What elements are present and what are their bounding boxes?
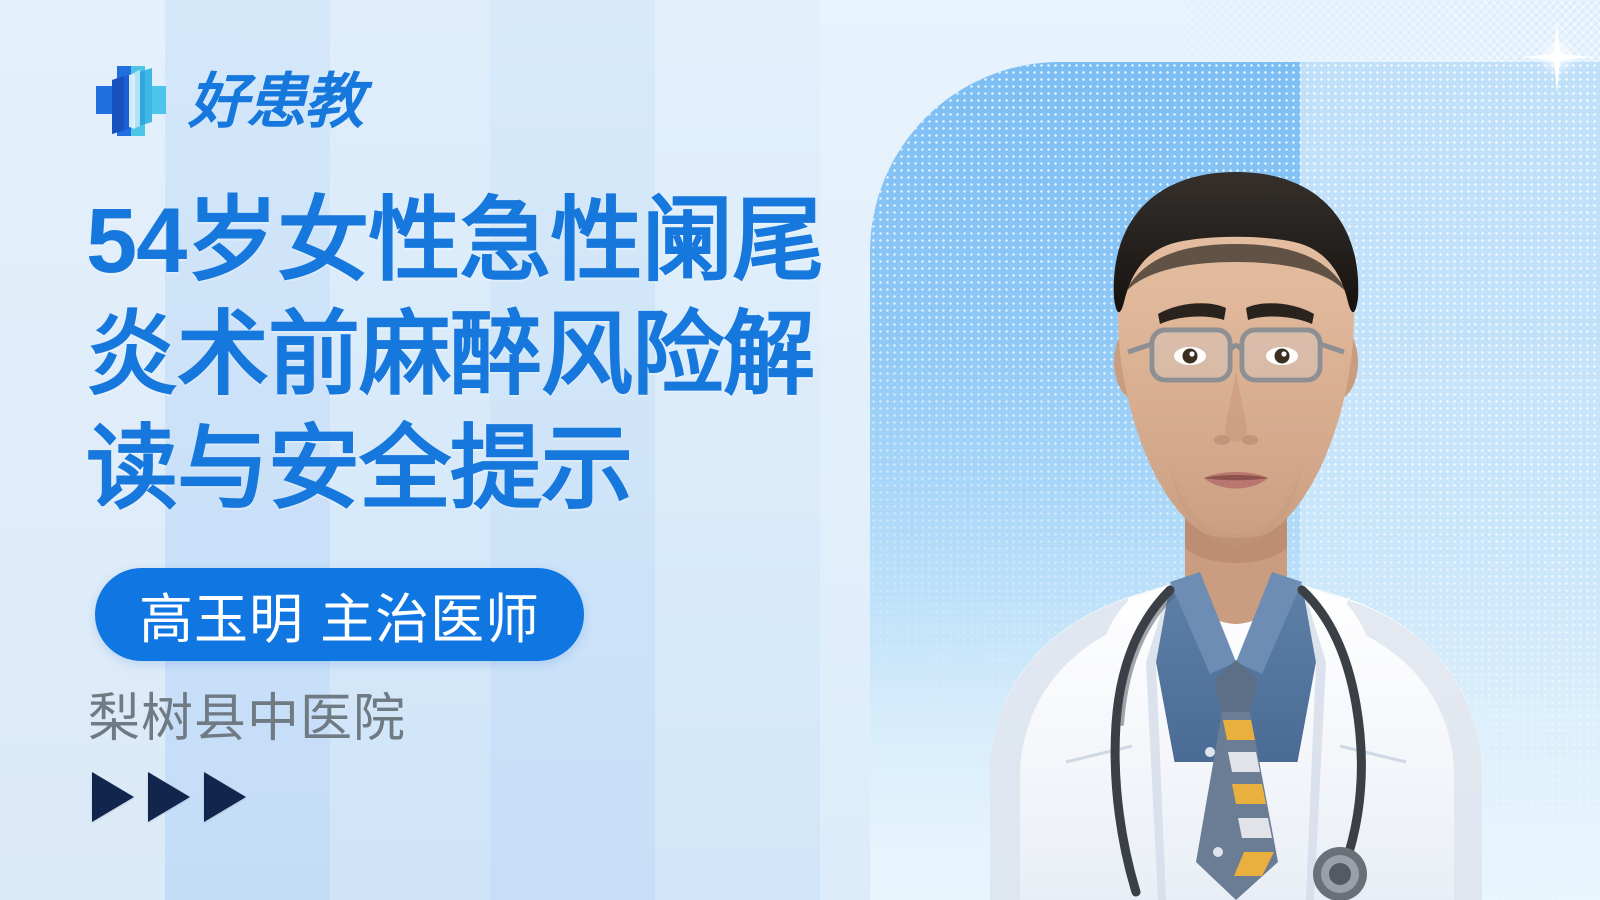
doctor-photo-panel	[870, 62, 1600, 900]
brand-logo[interactable]: 好患教	[88, 58, 388, 144]
hospital-name: 梨树县中医院	[88, 676, 406, 751]
medical-cross-book-icon	[88, 58, 174, 144]
doctor-badge-label: 高玉明 主治医师	[139, 575, 540, 654]
poster-canvas: 好患教 54岁女性急性阑尾 炎术前麻醉风险解 读与安全提示 高玉明 主治医师 梨…	[0, 0, 1600, 900]
play-arrow-icon-1	[92, 772, 134, 822]
svg-text:好患教: 好患教	[188, 68, 373, 134]
play-arrows-decoration	[92, 772, 246, 822]
doctor-name-badge: 高玉明 主治医师	[95, 568, 584, 661]
page-title: 54岁女性急性阑尾 炎术前麻醉风险解 读与安全提示	[86, 184, 876, 526]
play-arrow-icon-2	[148, 772, 190, 822]
doctor-portrait	[870, 62, 1600, 900]
play-arrow-icon-3	[204, 772, 246, 822]
brand-wordmark: 好患教	[188, 68, 388, 134]
